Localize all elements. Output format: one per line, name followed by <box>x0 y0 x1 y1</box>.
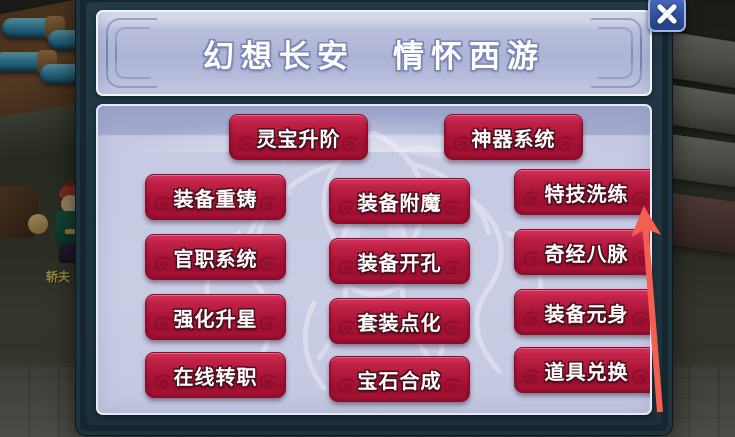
menu-button-qijing-bamai[interactable]: 奇经八脉 <box>514 229 652 275</box>
menu-button-zhuangbei-chongzhu[interactable]: 装备重铸 <box>145 174 286 220</box>
menu-button-guanzhi-xitong[interactable]: 官职系统 <box>145 234 286 280</box>
cloud-swirl-icon <box>521 308 543 330</box>
cloud-swirl-icon <box>554 133 576 155</box>
menu-button-label: 装备重铸 <box>174 183 258 212</box>
menu-button-label: 装备附魔 <box>358 187 442 216</box>
menu-button-label: 装备元身 <box>545 298 629 327</box>
cloud-swirl-icon <box>630 188 652 210</box>
cloud-swirl-icon <box>441 317 463 339</box>
cloud-swirl-icon <box>441 375 463 397</box>
menu-button-shenqi-xitong[interactable]: 神器系统 <box>444 114 583 160</box>
cloud-swirl-icon <box>257 371 279 393</box>
feature-menu-dialog: 幻想长安 情怀西游 <box>76 0 672 435</box>
cloud-swirl-icon <box>521 188 543 210</box>
menu-button-baoshi-hecheng[interactable]: 宝石合成 <box>329 356 470 402</box>
menu-button-label: 特技洗练 <box>545 178 629 207</box>
cloud-swirl-icon <box>257 193 279 215</box>
page-title: 幻想长安 情怀西游 <box>203 31 545 76</box>
cloud-swirl-icon <box>152 193 174 215</box>
menu-button-zhuangbei-yuanshen[interactable]: 装备元身 <box>514 289 652 335</box>
menu-button-teji-xilian[interactable]: 特技洗练 <box>514 169 652 215</box>
menu-button-label: 强化升星 <box>174 303 258 332</box>
menu-panel: 灵宝升阶神器系统装备重铸装备附魔特技洗练官职系统装备开孔奇经八脉强化升星套装点化… <box>96 104 652 415</box>
menu-button-label: 装备开孔 <box>358 247 442 276</box>
cloud-swirl-icon <box>441 197 463 219</box>
cloud-swirl-icon <box>521 366 543 388</box>
cloud-swirl-icon <box>152 313 174 335</box>
menu-button-label: 道具兑换 <box>545 356 629 385</box>
cloud-swirl-icon <box>336 317 358 339</box>
cloud-swirl-icon <box>336 375 358 397</box>
menu-button-taozhuang-dianhua[interactable]: 套装点化 <box>329 298 470 344</box>
cloud-swirl-icon <box>152 371 174 393</box>
menu-button-label: 奇经八脉 <box>545 238 629 267</box>
cloud-swirl-icon <box>521 248 543 270</box>
cloud-swirl-icon <box>336 197 358 219</box>
cloud-swirl-icon <box>451 133 473 155</box>
menu-button-label: 在线转职 <box>174 361 258 390</box>
menu-button-zaixian-zhuanzhi[interactable]: 在线转职 <box>145 352 286 398</box>
cloud-swirl-icon <box>257 253 279 275</box>
banner-corner-ornament <box>590 36 642 88</box>
cloud-swirl-icon <box>441 257 463 279</box>
menu-button-label: 神器系统 <box>472 123 556 152</box>
cloud-swirl-icon <box>339 133 361 155</box>
menu-button-zhuangbei-fumo[interactable]: 装备附魔 <box>329 178 470 224</box>
cloud-swirl-icon <box>152 253 174 275</box>
menu-button-label: 套装点化 <box>358 307 442 336</box>
cloud-swirl-icon <box>630 308 652 330</box>
cloud-swirl-icon <box>257 313 279 335</box>
cloud-swirl-icon <box>236 133 258 155</box>
cloud-swirl-icon <box>630 366 652 388</box>
banner-corner-ornament <box>106 36 158 88</box>
menu-button-label: 宝石合成 <box>358 365 442 394</box>
menu-button-zhuangbei-kaikong[interactable]: 装备开孔 <box>329 238 470 284</box>
cloud-swirl-icon <box>630 248 652 270</box>
title-banner: 幻想长安 情怀西游 <box>96 10 652 96</box>
menu-button-lingbao-shengjie[interactable]: 灵宝升阶 <box>229 114 368 160</box>
menu-button-label: 灵宝升阶 <box>257 123 341 152</box>
menu-button-label: 官职系统 <box>174 243 258 272</box>
screen-root: 轿夫 幻想长安 情怀西游 <box>0 0 735 437</box>
cloud-swirl-icon <box>336 257 358 279</box>
close-icon[interactable] <box>648 0 686 32</box>
menu-button-qianghua-shengxing[interactable]: 强化升星 <box>145 294 286 340</box>
menu-button-daoju-duihuan[interactable]: 道具兑换 <box>514 347 652 393</box>
dialog-inner: 幻想长安 情怀西游 <box>86 2 662 425</box>
